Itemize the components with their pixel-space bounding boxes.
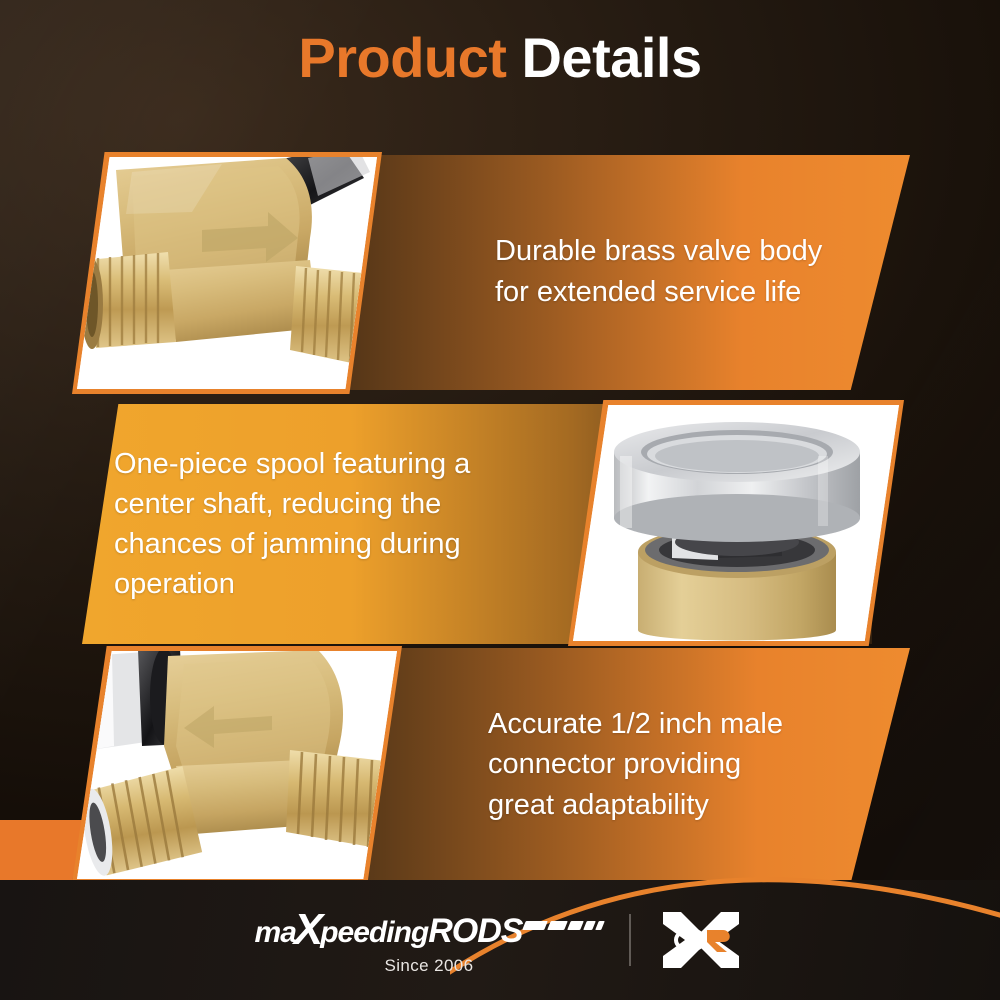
speed-lines-icon <box>524 921 603 930</box>
feature-3-line-3: great adaptability <box>488 785 783 825</box>
feature-2-line-2: center shaft, reducing the <box>114 484 470 524</box>
page-title: Product Details <box>0 30 1000 86</box>
feature-1-image-card <box>72 152 382 394</box>
feature-2-line-1: One-piece spool featuring a <box>114 444 470 484</box>
feature-3-image-frame <box>72 646 402 884</box>
feature-3-text: Accurate 1/2 inch male connector providi… <box>488 704 783 824</box>
infographic-canvas: Product Details Durable brass valve body… <box>0 0 1000 1000</box>
feature-2-line-3: chances of jamming during <box>114 524 470 564</box>
footer-logo-group: maXpeedingRODS Since 2006 OR <box>0 902 1000 978</box>
feature-3-line-1: Accurate 1/2 inch male <box>488 704 783 744</box>
feature-1-line-2: for extended service life <box>495 272 822 312</box>
feature-2-line-4: operation <box>114 564 470 604</box>
feature-3-line-2: connector providing <box>488 744 783 784</box>
feature-2-text: One-piece spool featuring a center shaft… <box>114 444 470 604</box>
brand-tagline: Since 2006 <box>384 957 473 974</box>
brand-mid: peeding <box>320 918 428 948</box>
page-title-accent: Product <box>298 26 506 89</box>
brand-logo: maXpeedingRODS Since 2006 <box>255 906 604 974</box>
feature-2-image-card <box>568 400 904 646</box>
feature-3-image-card <box>72 646 402 884</box>
brand-prefix: ma <box>255 918 296 948</box>
or-x-badge-icon: OR <box>657 910 745 970</box>
feature-2-photo <box>568 400 904 646</box>
footer-divider <box>629 914 631 966</box>
feature-1-text: Durable brass valve body for extended se… <box>495 231 822 311</box>
brand-x-letter: X <box>294 908 322 952</box>
feature-1-image-frame <box>72 152 382 394</box>
brand-wordmark: maXpeedingRODS <box>255 906 604 950</box>
feature-3-photo <box>72 646 402 884</box>
feature-2-image-frame <box>568 400 904 646</box>
feature-1-photo <box>72 152 382 394</box>
feature-1-line-1: Durable brass valve body <box>495 231 822 271</box>
brand-suffix: RODS <box>428 914 522 948</box>
page-title-main: Details <box>506 26 701 89</box>
